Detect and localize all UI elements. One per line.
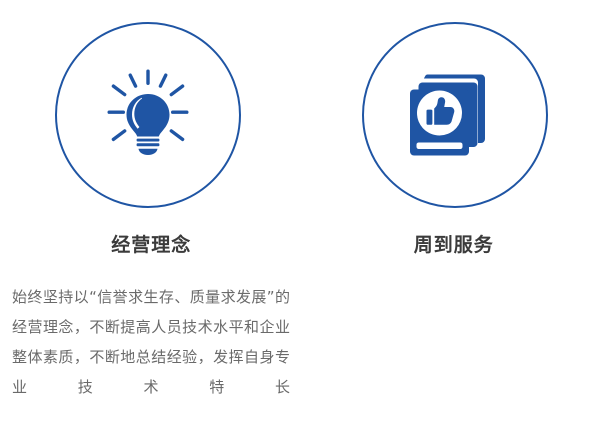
thumbs-up-books-icon — [405, 65, 505, 165]
icon-badge-circle — [55, 22, 241, 208]
card-body-text: 始终坚持以“信誉求生存、质量求发展”的经营理念，不断提高人员技术水平和企业整体素… — [12, 282, 290, 402]
feature-card-business-philosophy[interactable]: 经营理念 始终坚持以“信誉求生存、质量求发展”的经营理念，不断提高人员技术水平和… — [0, 0, 303, 437]
feature-card-attentive-service[interactable]: 周到服务 忠实地履行合同义务，并严格按照合同的约定，以公正公平、多方面的管理和完… — [303, 0, 605, 437]
icon-badge-circle — [362, 22, 548, 208]
card-title: 经营理念 — [0, 232, 303, 258]
feature-grid: 经营理念 始终坚持以“信誉求生存、质量求发展”的经营理念，不断提高人员技术水平和… — [0, 0, 605, 437]
card-title: 周到服务 — [303, 232, 605, 258]
lightbulb-icon — [98, 65, 198, 165]
